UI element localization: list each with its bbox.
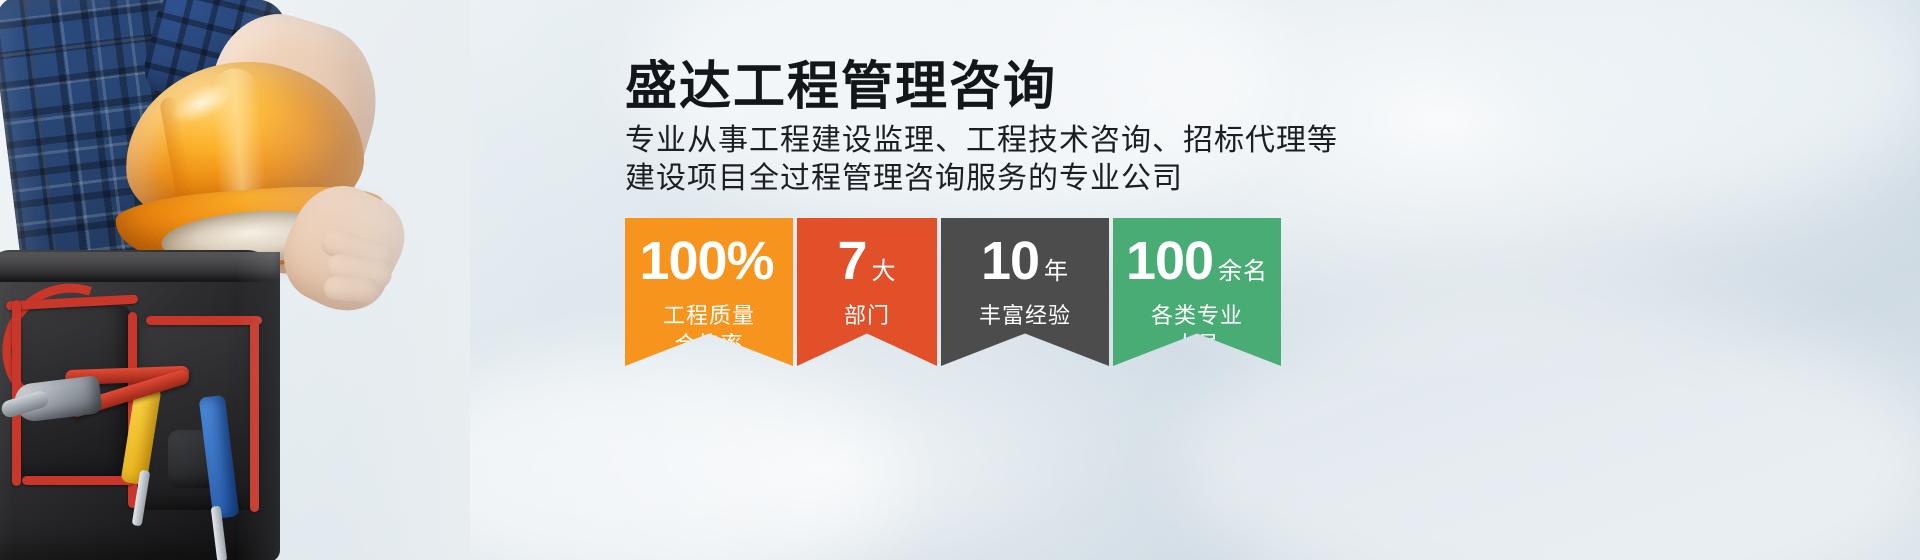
stat-label: 部门 [844,301,890,330]
stat-label-line: 工程质量 [663,301,755,330]
stat-badge-experience[interactable]: 10 年 丰富经验 [941,218,1109,366]
stat-badge-staff[interactable]: 100 余名 各类专业 人员 [1113,218,1281,366]
photo-fade-overlay [236,0,470,560]
stat-label-line: 合格率 [663,330,755,359]
subtitle-line-2: 建设项目全过程管理咨询服务的专业公司 [625,160,1805,198]
stat-number-group: 10 年 [981,234,1069,288]
stat-number-group: 7 大 [837,234,896,288]
stat-number: 100 [1126,234,1213,288]
stat-unit: 年 [1044,260,1069,284]
stat-label-line: 人员 [1151,330,1243,359]
stat-unit: 大 [872,260,897,284]
stat-badge-row: 100% 工程质量 合格率 7 大 部门 10 年 丰富经验 [625,218,1281,366]
stat-label-line: 各类专业 [1151,301,1243,330]
stat-label-line: 丰富经验 [979,301,1071,330]
stat-number: 7 [837,234,866,288]
stat-number-group: 100% [639,234,778,288]
worker-photo [0,0,470,560]
stat-label: 工程质量 合格率 [663,301,755,359]
headline-block: 盛达工程管理咨询 专业从事工程建设监理、工程技术咨询、招标代理等 建设项目全过程… [625,56,1805,198]
stat-number-group: 100 余名 [1126,234,1268,288]
hero-banner: 盛达工程管理咨询 专业从事工程建设监理、工程技术咨询、招标代理等 建设项目全过程… [0,0,1920,560]
stat-number: 10 [981,234,1039,288]
page-title: 盛达工程管理咨询 [625,56,1805,118]
stat-label: 丰富经验 [979,301,1071,330]
stat-badge-departments[interactable]: 7 大 部门 [797,218,937,366]
stat-label-line: 部门 [844,301,890,330]
stat-number: 100% [639,234,773,288]
subtitle-line-1: 专业从事工程建设监理、工程技术咨询、招标代理等 [625,122,1805,160]
tool-belt-piping [22,476,134,485]
stat-unit: 余名 [1218,260,1268,284]
stat-label: 各类专业 人员 [1151,301,1243,359]
stat-badge-quality[interactable]: 100% 工程质量 合格率 [625,218,793,366]
